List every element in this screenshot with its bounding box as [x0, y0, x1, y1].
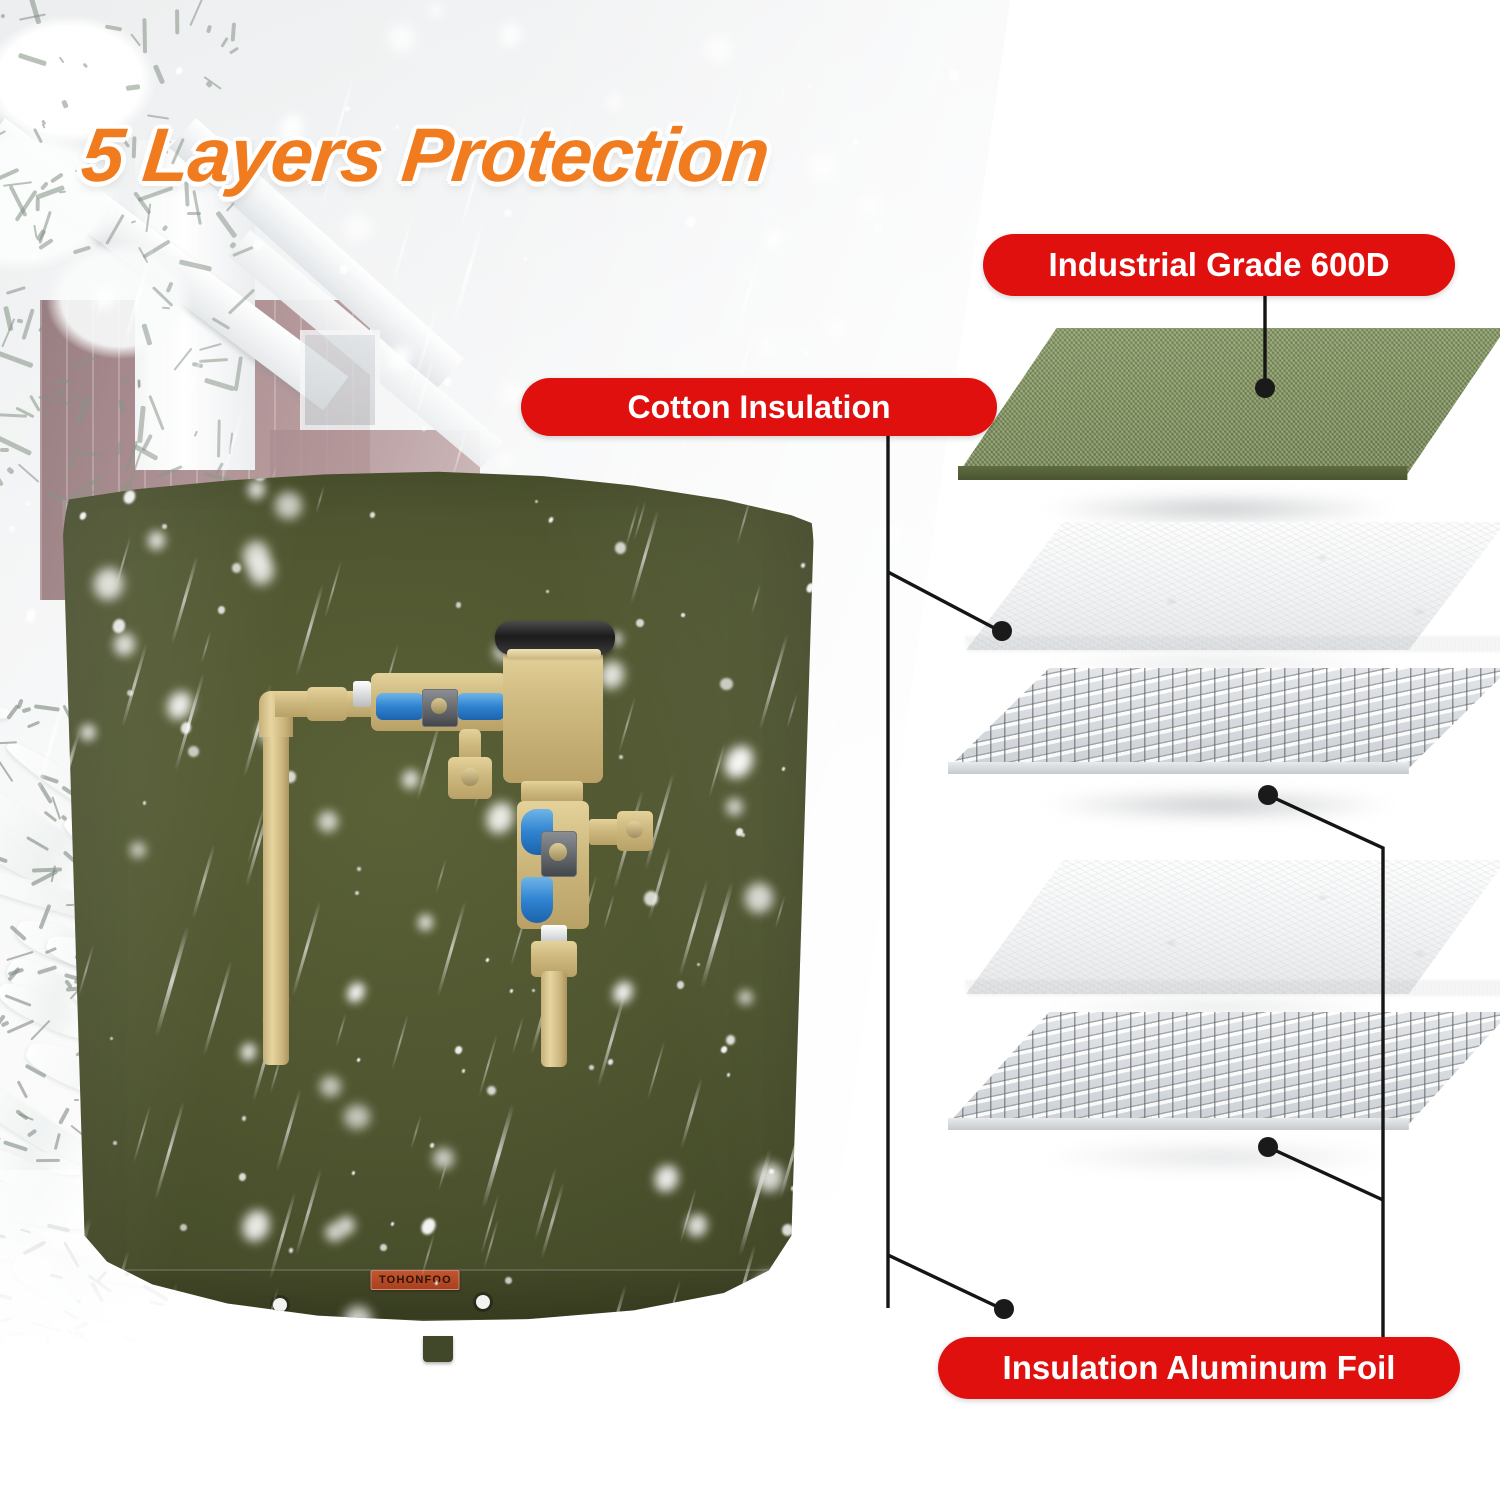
snowflake: [110, 1037, 113, 1040]
snowflake: [79, 511, 88, 521]
snowflake: [246, 554, 276, 586]
snow-streak: [811, 1487, 843, 1500]
foil-top-face: [948, 668, 1500, 768]
snowflake: [651, 1162, 682, 1196]
brand-tag: TOHONFOO: [371, 1270, 460, 1290]
snow-streak: [174, 673, 205, 772]
inlet-union-nut: [307, 687, 347, 721]
snowflake: [241, 539, 272, 572]
snow-streak: [268, 1191, 296, 1280]
snow-streak: [625, 505, 639, 548]
cover-grommet: [476, 1295, 490, 1309]
snowflake: [180, 721, 193, 735]
snowflake: [379, 1244, 387, 1252]
snowflake: [720, 678, 733, 691]
snowflake: [343, 1104, 370, 1130]
shutoff-handle-blue-lower[interactable]: [521, 877, 553, 923]
fabric-top-face: [958, 328, 1500, 474]
snowflake: [784, 1259, 795, 1271]
snow-streak: [192, 844, 216, 919]
fabric-edge-face: [958, 466, 1500, 480]
foil-top-face: [948, 1012, 1500, 1124]
snowflake: [127, 690, 133, 696]
snowflake: [719, 741, 758, 783]
pvb-neck: [521, 781, 583, 803]
inlet-riser-pipe: [263, 715, 289, 1065]
snow-streak: [758, 633, 789, 730]
snowflake: [179, 1224, 186, 1231]
snowflake: [800, 563, 806, 569]
foil-edge-face: [948, 762, 1500, 774]
snowflake: [433, 1148, 455, 1170]
valve-handle-blue-left[interactable]: [376, 693, 424, 720]
snowflake: [275, 492, 302, 519]
label-insulation-aluminum-foil: Insulation Aluminum Foil: [938, 1337, 1460, 1399]
layer-3-shadow: [965, 782, 1471, 828]
material-layer-stack: [930, 300, 1500, 1310]
snowflake: [462, 1069, 466, 1074]
label-industrial-grade-600d: Industrial Grade 600D: [983, 234, 1455, 296]
snow-streak: [751, 583, 761, 614]
snowflake: [91, 565, 126, 603]
testcock-cap-right: [626, 821, 643, 838]
snowflake: [113, 1141, 117, 1145]
snow-streak: [105, 1250, 129, 1326]
testcock-cap-left: [461, 768, 479, 786]
snowflake: [726, 797, 744, 816]
snowflake: [904, 1211, 908, 1215]
snowflake: [614, 541, 626, 554]
snowflake: [768, 1168, 774, 1174]
snow-streak: [275, 1088, 302, 1172]
snow-streak: [633, 501, 646, 541]
backflow-preventer-valve: [245, 605, 715, 1065]
snowflake: [898, 1233, 903, 1238]
snowflake: [900, 1421, 910, 1432]
snowflake: [238, 1206, 274, 1245]
snow-streak: [726, 1244, 756, 1339]
snow-streak: [630, 509, 660, 604]
snowflake: [246, 478, 267, 501]
snowflake: [238, 1172, 246, 1181]
snow-streak: [295, 1169, 323, 1256]
layer-1-fabric-600d: [958, 328, 1500, 474]
snowflake: [486, 1086, 496, 1097]
snowflake: [231, 563, 241, 573]
snow-streak: [779, 1120, 804, 1199]
snowflake: [545, 590, 549, 594]
snowflake: [589, 1065, 595, 1071]
outlet-riser-pipe: [541, 971, 567, 1067]
snow-streak: [821, 1488, 837, 1500]
snowflake: [162, 524, 168, 530]
snowflake: [122, 488, 138, 505]
snow-streak: [170, 555, 198, 645]
snowflake: [901, 972, 910, 982]
snow-streak: [481, 1104, 514, 1209]
snowflake: [112, 631, 137, 658]
infographic-canvas: TOHONFOO: [0, 0, 1500, 1500]
snowflake: [336, 1215, 356, 1236]
snowflake: [147, 1290, 163, 1308]
snowflake: [146, 529, 167, 551]
snowflake: [781, 766, 786, 771]
snowflake: [217, 606, 225, 615]
snowflake: [119, 1276, 132, 1290]
snowflake: [111, 618, 126, 635]
snow-streak: [58, 1218, 91, 1324]
snow-streak: [438, 1160, 448, 1190]
snow-streak: [786, 694, 798, 729]
snowflake: [352, 1171, 356, 1175]
snow-streak: [482, 1219, 498, 1269]
snowflake: [188, 746, 199, 757]
snow-streak: [481, 1193, 500, 1253]
snow-streak: [72, 1294, 87, 1339]
shutoff-port: [549, 843, 567, 861]
snow-streak: [679, 1188, 697, 1244]
label-cotton-insulation: Cotton Insulation: [521, 378, 997, 436]
snowflake: [163, 688, 196, 724]
snow-streak: [200, 630, 211, 663]
layer-2-cotton: [966, 522, 1500, 650]
cover-bottom-tab: [423, 1336, 453, 1362]
snowflake: [735, 827, 744, 837]
snow-streak: [155, 926, 190, 1037]
snowflake: [390, 1222, 394, 1227]
snowflake: [369, 512, 375, 519]
cotton-top-face: [966, 860, 1500, 994]
snowflake: [808, 731, 814, 737]
snowflake: [319, 1076, 342, 1098]
snow-streak: [986, 1485, 996, 1500]
snow-streak: [121, 642, 148, 727]
snowflake: [738, 990, 754, 1005]
layer-5-aluminum-foil: [948, 1012, 1500, 1124]
snowflake: [755, 1161, 787, 1195]
snow-streak: [202, 961, 232, 1057]
snow-streak: [315, 485, 325, 514]
snow-streak: [886, 1362, 921, 1471]
foil-edge-face: [948, 1118, 1500, 1130]
snowflake: [79, 723, 97, 742]
snowflake: [325, 1222, 345, 1243]
snowflake: [720, 1045, 728, 1054]
snow-streak: [736, 496, 752, 546]
cotton-top-face: [966, 522, 1500, 650]
snow-streak: [115, 536, 132, 590]
snowflake: [887, 1338, 907, 1358]
snowflake: [254, 470, 266, 482]
snow-streak: [78, 944, 95, 997]
snowflake: [790, 1186, 795, 1192]
snowflake: [743, 881, 775, 915]
snowflake: [288, 1248, 293, 1254]
snowflake: [548, 517, 555, 524]
snowflake: [429, 1142, 435, 1149]
snow-streak: [132, 1105, 151, 1163]
cover-grommet: [273, 1298, 287, 1312]
valve-handle-blue-right[interactable]: [457, 693, 505, 720]
valve-test-port: [431, 698, 447, 714]
page-title: 5 Layers Protection: [77, 112, 773, 199]
valve-connector-left: [353, 681, 371, 707]
snowflake: [726, 1073, 730, 1078]
snowflake: [684, 1211, 709, 1238]
snowflake: [725, 1034, 736, 1046]
snow-streak: [540, 1182, 564, 1259]
snowflake: [1007, 213, 1010, 224]
snowflake: [130, 841, 147, 858]
snow-streak: [534, 1168, 557, 1241]
layer-5-shadow: [965, 1134, 1471, 1180]
snow-streak: [806, 1418, 829, 1489]
snow-streak: [775, 896, 786, 930]
pvb-bonnet-flange: [507, 649, 601, 659]
layer-4-cotton: [966, 860, 1500, 994]
snow-streak: [738, 1149, 772, 1257]
snow-streak: [827, 1301, 852, 1379]
snow-streak: [154, 1100, 186, 1200]
snowflake: [143, 800, 147, 804]
snow-streak: [411, 1115, 422, 1150]
snowflake: [535, 500, 539, 504]
snowflake: [781, 1222, 794, 1236]
snowflake: [419, 1216, 439, 1237]
layer-3-aluminum-foil: [948, 668, 1500, 768]
snowflake: [741, 833, 745, 837]
snow-streak: [679, 1077, 702, 1149]
snowflake: [241, 1116, 246, 1121]
pvb-main-body: [503, 649, 603, 783]
